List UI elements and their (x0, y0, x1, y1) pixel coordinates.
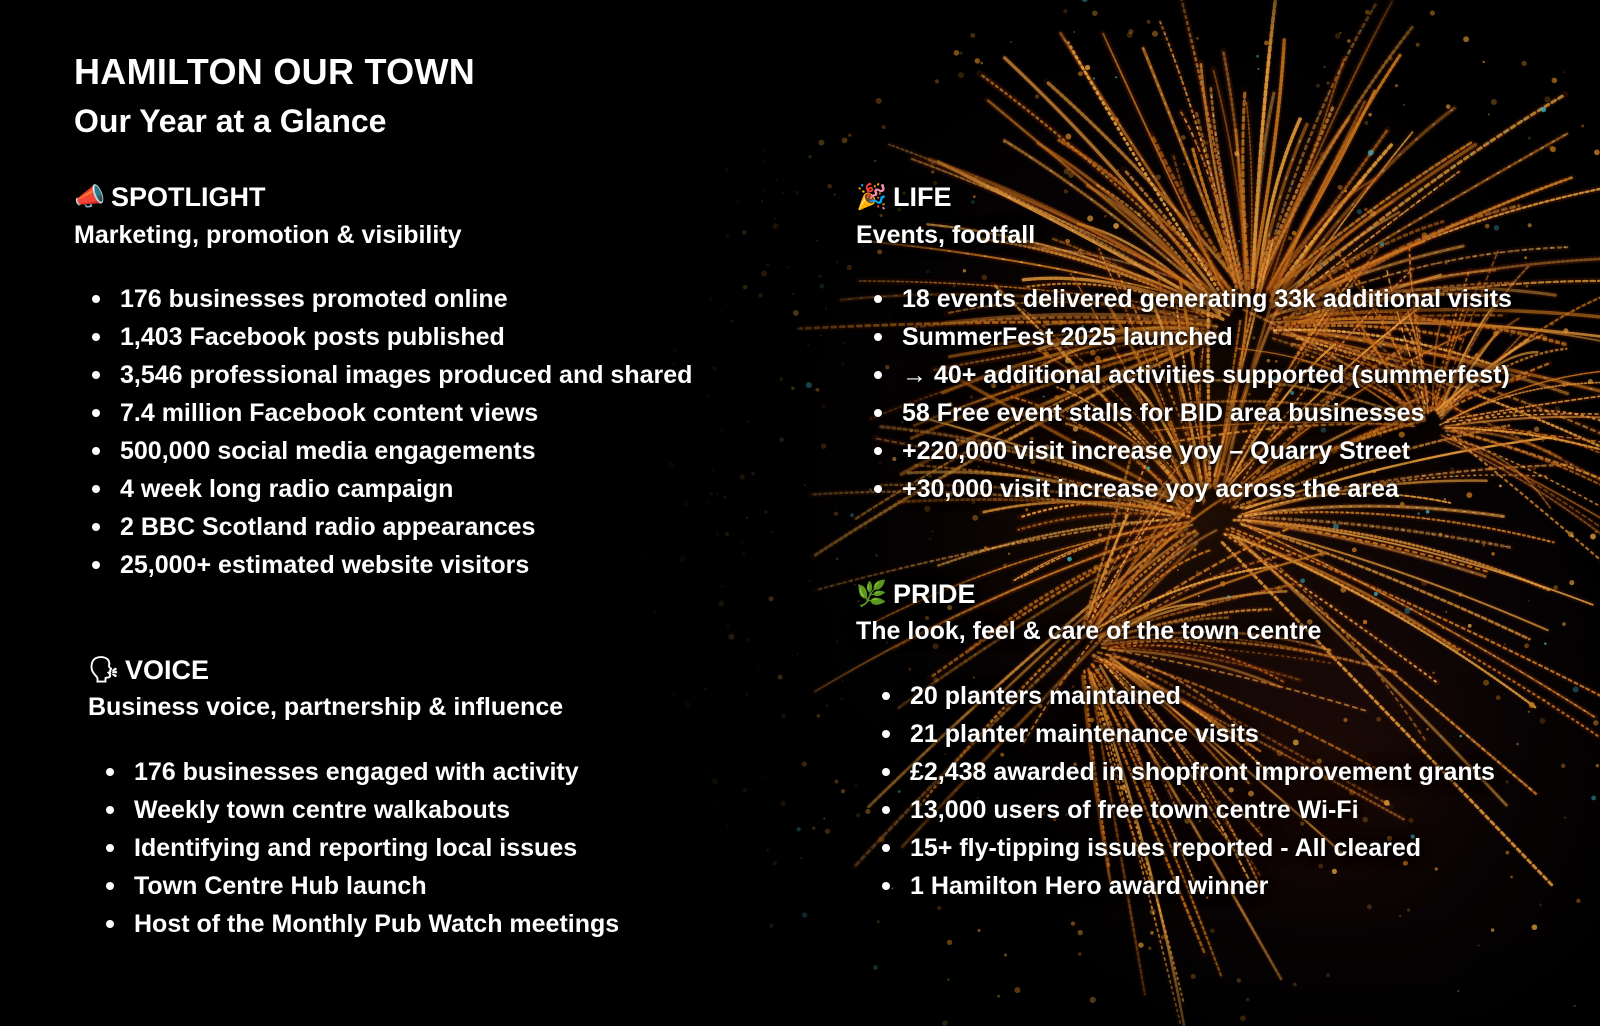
voice-heading: 🗣 VOICE (74, 652, 800, 688)
slide-content: HAMILTON OUR TOWN Our Year at a Glance 📣… (0, 0, 1600, 1026)
list-item: Host of the Monthly Pub Watch meetings (74, 905, 800, 943)
section-spotlight: 📣 SPOTLIGHT Marketing, promotion & visib… (74, 179, 800, 584)
spotlight-label: SPOTLIGHT (111, 179, 266, 215)
life-bullet-list: 18 events delivered generating 33k addit… (856, 280, 1600, 508)
voice-label: VOICE (125, 652, 209, 688)
herb-icon: 🌿 (856, 582, 884, 607)
pride-heading: 🌿 PRIDE (856, 576, 1600, 612)
list-item: +220,000 visit increase yoy – Quarry Str… (856, 432, 1600, 470)
page-title: HAMILTON OUR TOWN (74, 46, 1600, 97)
pride-subtitle: The look, feel & care of the town centre (856, 613, 1600, 651)
list-item: 3,546 professional images produced and s… (74, 356, 800, 394)
list-item: 58 Free event stalls for BID area busine… (856, 394, 1600, 432)
pride-label: PRIDE (893, 576, 976, 612)
list-item: 15+ fly-tipping issues reported - All cl… (856, 829, 1600, 867)
list-item: +30,000 visit increase yoy across the ar… (856, 470, 1600, 508)
party-popper-icon: 🎉 (856, 185, 884, 210)
list-item: 7.4 million Facebook content views (74, 394, 800, 432)
right-column: 🎉 LIFE Events, footfall 18 events delive… (800, 179, 1600, 943)
list-item: 1,403 Facebook posts published (74, 318, 800, 356)
section-life: 🎉 LIFE Events, footfall 18 events delive… (856, 179, 1600, 508)
list-item: Weekly town centre walkabouts (74, 791, 800, 829)
life-heading: 🎉 LIFE (856, 179, 1600, 215)
list-item: 13,000 users of free town centre Wi-Fi (856, 791, 1600, 829)
spotlight-bullet-list: 176 businesses promoted online 1,403 Fac… (74, 280, 800, 584)
list-item: 176 businesses engaged with activity (74, 753, 800, 791)
page-subtitle: Our Year at a Glance (74, 97, 1600, 145)
list-item: 2 BBC Scotland radio appearances (74, 508, 800, 546)
list-item: Town Centre Hub launch (74, 867, 800, 905)
left-column: 📣 SPOTLIGHT Marketing, promotion & visib… (0, 179, 800, 943)
list-item: 21 planter maintenance visits (856, 715, 1600, 753)
list-item: £2,438 awarded in shopfront improvement … (856, 753, 1600, 791)
list-item: Identifying and reporting local issues (74, 829, 800, 867)
slide-root: HAMILTON OUR TOWN Our Year at a Glance 📣… (0, 0, 1600, 1026)
list-item: 20 planters maintained (856, 677, 1600, 715)
list-item: 4 week long radio campaign (74, 470, 800, 508)
list-item: 25,000+ estimated website visitors (74, 546, 800, 584)
speaking-head-icon: 🗣 (88, 658, 116, 683)
title-block: HAMILTON OUR TOWN Our Year at a Glance (0, 46, 1600, 145)
megaphone-icon: 📣 (74, 185, 102, 210)
spotlight-subtitle: Marketing, promotion & visibility (74, 217, 800, 255)
pride-bullet-list: 20 planters maintained 21 planter mainte… (856, 677, 1600, 905)
list-item: → 40+ additional activities supported (s… (856, 356, 1600, 394)
columns: 📣 SPOTLIGHT Marketing, promotion & visib… (0, 179, 1600, 943)
life-label: LIFE (893, 179, 952, 215)
spotlight-heading: 📣 SPOTLIGHT (74, 179, 800, 215)
list-item: 176 businesses promoted online (74, 280, 800, 318)
list-item: 1 Hamilton Hero award winner (856, 867, 1600, 905)
section-pride: 🌿 PRIDE The look, feel & care of the tow… (856, 576, 1600, 905)
list-item: SummerFest 2025 launched (856, 318, 1600, 356)
section-voice: 🗣 VOICE Business voice, partnership & in… (74, 652, 800, 943)
voice-subtitle: Business voice, partnership & influence (74, 689, 800, 727)
list-item: 500,000 social media engagements (74, 432, 800, 470)
list-item: 18 events delivered generating 33k addit… (856, 280, 1600, 318)
voice-bullet-list: 176 businesses engaged with activity Wee… (74, 753, 800, 943)
life-subtitle: Events, footfall (856, 217, 1600, 255)
